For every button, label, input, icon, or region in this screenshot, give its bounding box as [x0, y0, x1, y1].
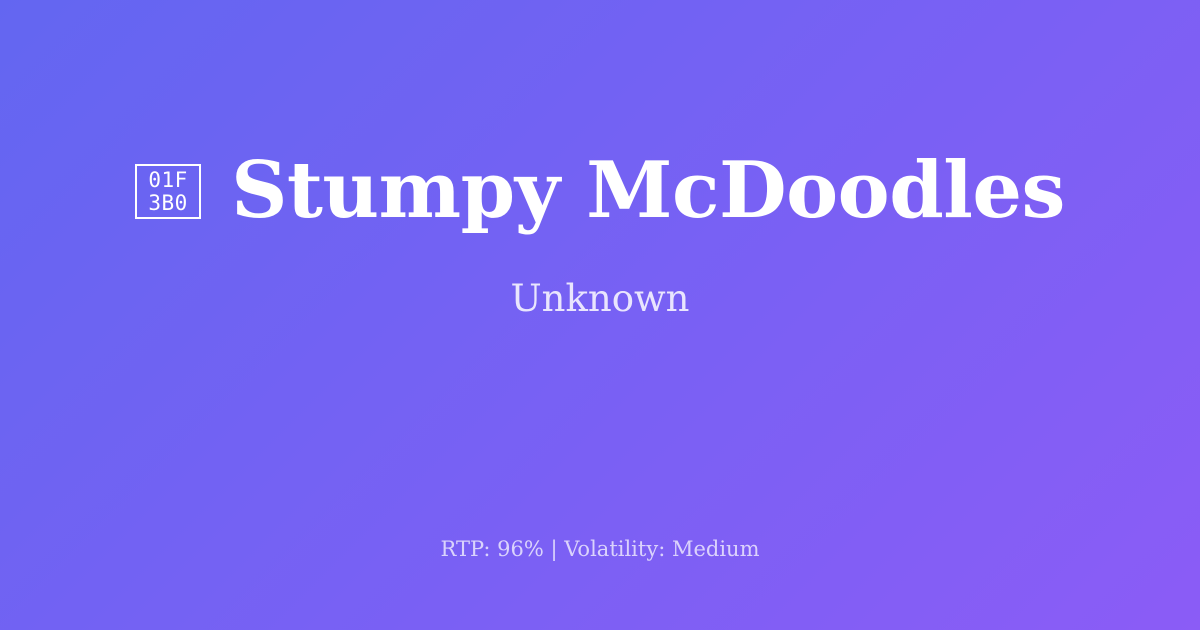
page-subtitle: Unknown	[510, 279, 689, 320]
title-row: 01F 3B0 Stumpy McDoodles	[135, 150, 1065, 233]
page-title: Stumpy McDoodles	[231, 150, 1065, 233]
slot-machine-icon-codepoint-top: 01F	[148, 169, 187, 192]
game-meta-text: RTP: 96% | Volatility: Medium	[441, 537, 760, 562]
og-card: 01F 3B0 Stumpy McDoodles Unknown RTP: 96…	[0, 0, 1200, 630]
meta-footer: RTP: 96% | Volatility: Medium	[0, 470, 1200, 630]
slot-machine-icon-codepoint-bottom: 3B0	[148, 192, 187, 215]
slot-machine-icon: 01F 3B0	[135, 164, 201, 219]
hero-section: 01F 3B0 Stumpy McDoodles Unknown	[0, 0, 1200, 470]
